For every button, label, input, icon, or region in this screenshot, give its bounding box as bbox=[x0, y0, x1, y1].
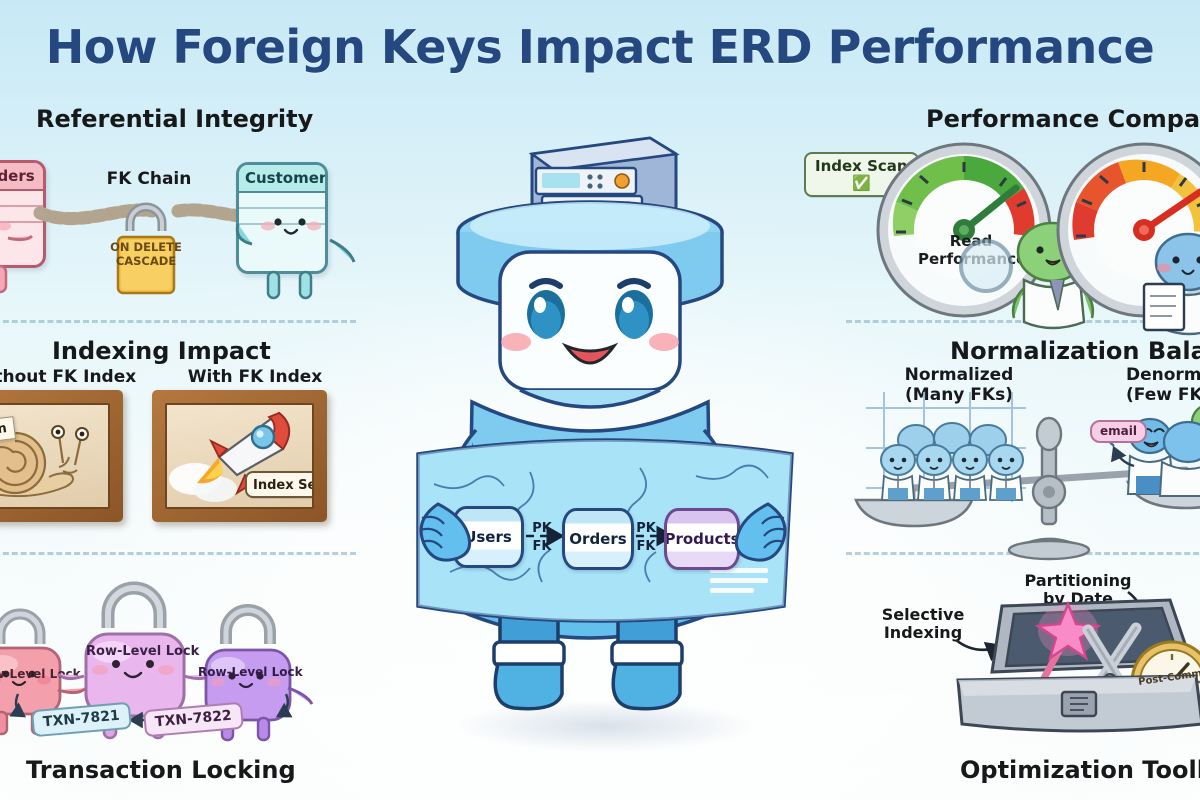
frame-with-fk-index[interactable]: Index Seek ✅ bbox=[152, 390, 327, 522]
padlock-label: ON DELETE CASCADE bbox=[106, 240, 186, 269]
optimization-toolbox[interactable] bbox=[940, 588, 1200, 740]
email-badge-arrow bbox=[1104, 440, 1144, 472]
snail-icon bbox=[0, 405, 110, 509]
index-seek-badge[interactable]: Index Seek ✅ bbox=[245, 471, 314, 498]
panel-title-normalization-balance: Normalization Balance bbox=[950, 337, 1200, 365]
row-level-lock-1-label: Row-Level Lock bbox=[0, 668, 62, 682]
normalized-blob-crowd bbox=[876, 418, 1026, 508]
panel-title-transaction-locking: Transaction Locking bbox=[26, 756, 296, 784]
panel-title-indexing-impact: Indexing Impact bbox=[52, 337, 271, 365]
panel-title-optimization-toolkit: Optimization Toolkit bbox=[960, 756, 1200, 784]
row-level-lock-2-label: Row-Level Lock bbox=[86, 645, 182, 660]
blue-blob-notetaker bbox=[1148, 228, 1200, 336]
check-icon: ✅ bbox=[852, 174, 871, 192]
label-normalized-line1: Normalized bbox=[894, 366, 1024, 386]
frame-inner: Index Seek ✅ bbox=[165, 403, 314, 509]
customers-mascot-features bbox=[230, 162, 360, 312]
label-without-fk-index: Without FK Index bbox=[0, 368, 148, 388]
robot-hands-on-blueprint bbox=[404, 498, 804, 578]
frame-without-fk-index[interactable]: Full Scan bbox=[0, 390, 123, 522]
divider-left-upper bbox=[0, 320, 356, 323]
frame-inner: Full Scan bbox=[0, 403, 110, 509]
row-level-lock-3-label: Row-Level Lock bbox=[198, 666, 290, 680]
divider-left-lower bbox=[0, 552, 356, 555]
page-title: How Foreign Keys Impact ERD Performance bbox=[0, 20, 1200, 74]
label-denormalized-line1: Denormalized bbox=[1126, 366, 1200, 386]
panel-title-performance-comparison: Performance Comparison bbox=[926, 105, 1200, 133]
label-with-fk-index: With FK Index bbox=[180, 368, 330, 388]
infographic-canvas: How Foreign Keys Impact ERD Performance … bbox=[0, 0, 1200, 800]
fk-chain-label: FK Chain bbox=[104, 170, 194, 190]
panel-title-referential-integrity: Referential Integrity bbox=[36, 105, 313, 133]
